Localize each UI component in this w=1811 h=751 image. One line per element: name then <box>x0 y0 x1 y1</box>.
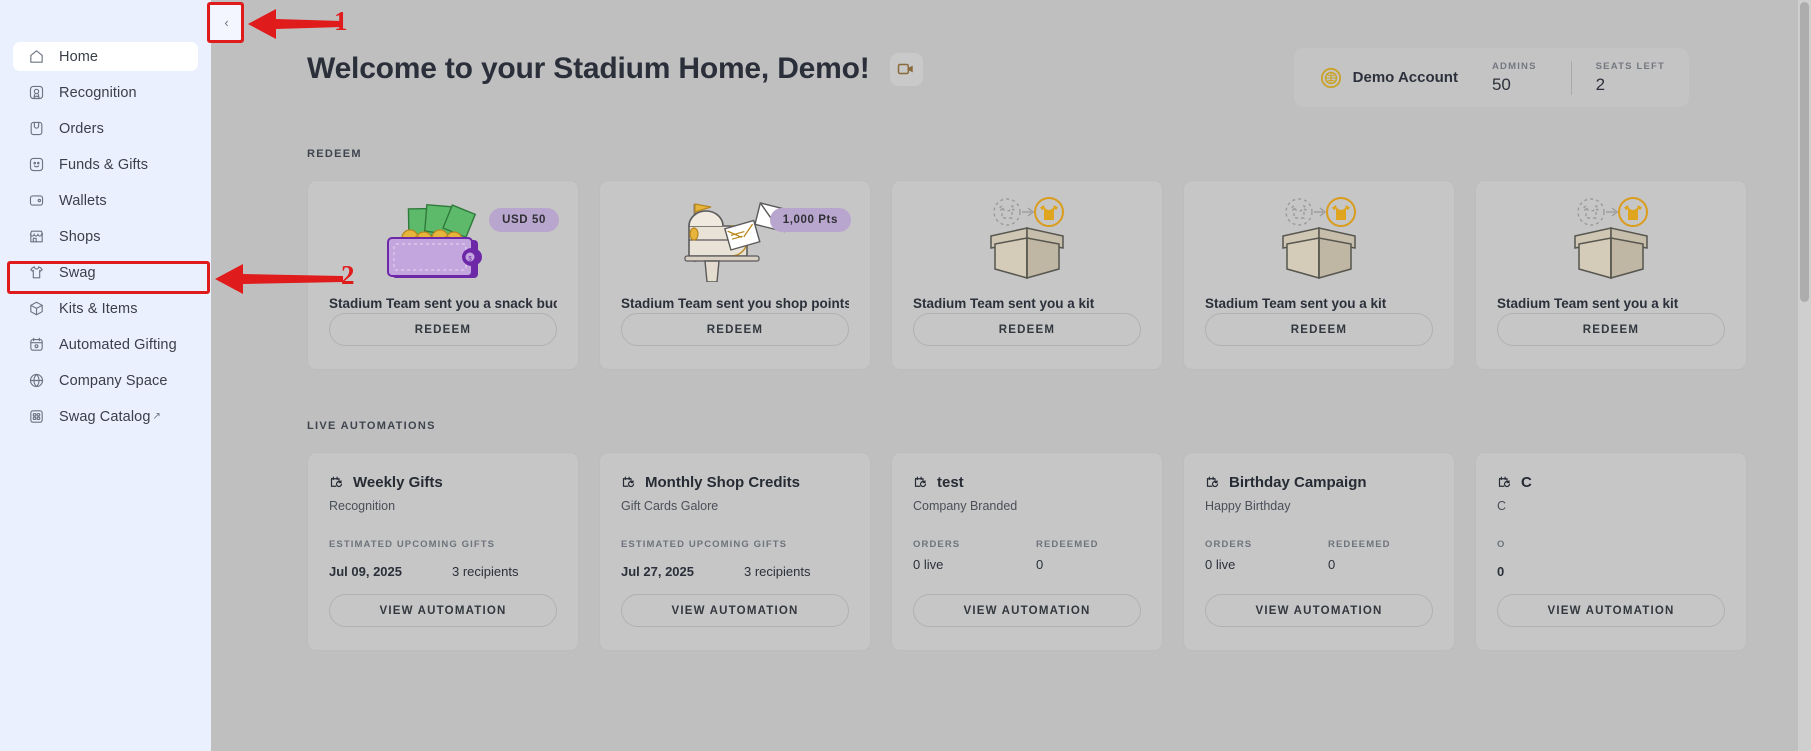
vertical-scrollbar-thumb[interactable] <box>1800 2 1809 302</box>
view-automation-button[interactable]: VIEW AUTOMATION <box>913 594 1141 627</box>
redeem-card-illustration: 1,000 Pts <box>621 198 849 280</box>
sidebar-item-orders[interactable]: Orders <box>13 114 198 143</box>
automation-header: Birthday Campaign <box>1205 474 1433 491</box>
account-stat-admins-label: ADMINS <box>1492 61 1537 72</box>
redeem-card[interactable]: Stadium Team sent you a kitREDEEM <box>1183 180 1455 370</box>
automation-card[interactable]: Weekly GiftsRecognitionESTIMATED UPCOMIN… <box>307 452 579 651</box>
automation-subtitle: Company Branded <box>913 499 1141 513</box>
sidebar-item-swag[interactable]: Swag <box>13 258 198 287</box>
view-automation-button[interactable]: VIEW AUTOMATION <box>621 594 849 627</box>
automation-header: Weekly Gifts <box>329 474 557 491</box>
view-automation-button[interactable]: VIEW AUTOMATION <box>329 594 557 627</box>
automation-calendar-icon <box>913 475 928 490</box>
sidebar-item-label: Orders <box>59 121 104 137</box>
redeem-button[interactable]: REDEEM <box>913 313 1141 346</box>
automation-calendar-icon <box>1497 475 1512 490</box>
external-link-icon: ↗ <box>152 411 160 422</box>
automation-stat-label: O <box>1497 539 1725 550</box>
sidebar-item-label: Home <box>59 49 98 65</box>
view-automation-button[interactable]: VIEW AUTOMATION <box>1497 594 1725 627</box>
redeem-card-illustration: $ USD 50 <box>329 198 557 280</box>
automation-card[interactable]: testCompany BrandedORDERS0 liveREDEEMED0… <box>891 452 1163 651</box>
sidebar-item-automated-gifting[interactable]: Automated Gifting <box>13 330 198 359</box>
wallet-cash-illustration: $ <box>382 196 504 282</box>
automation-stat-value: 0 <box>1497 564 1620 579</box>
box-icon <box>28 300 45 317</box>
collapse-sidebar-button[interactable]: ‹ <box>211 4 242 41</box>
open-box-illustration <box>967 196 1087 282</box>
open-box-illustration <box>1551 196 1671 282</box>
annotation-number-2: 2 <box>341 260 355 291</box>
automation-name: Birthday Campaign <box>1229 474 1367 491</box>
redeem-button[interactable]: REDEEM <box>621 313 849 346</box>
automation-stats: ORDERS0 liveREDEEMED0 <box>1205 539 1433 572</box>
main-content: Welcome to your Stadium Home, Demo! Demo… <box>211 0 1811 751</box>
automation-stat: ORDERS0 live <box>1205 539 1328 572</box>
automation-name: Weekly Gifts <box>353 474 443 491</box>
tshirt-icon <box>28 264 45 281</box>
redeem-card[interactable]: 1,000 PtsStadium Team sent you shop poin… <box>599 180 871 370</box>
redeem-section-label: REDEEM <box>307 148 362 160</box>
automation-calendar-icon <box>1205 475 1220 490</box>
open-box-illustration <box>1259 196 1379 282</box>
sidebar-item-label: Shops <box>59 229 101 245</box>
automation-stat-value: 0 <box>1036 557 1159 572</box>
redeem-card-badge: USD 50 <box>489 208 559 232</box>
automation-stat: REDEEMED0 <box>1036 539 1159 572</box>
video-camera-icon-button[interactable] <box>890 53 923 86</box>
automation-header: test <box>913 474 1141 491</box>
sidebar-item-label: Swag Catalog <box>59 409 150 425</box>
automation-subtitle: Gift Cards Galore <box>621 499 849 513</box>
account-stat-seats-left-label: SEATS LEFT <box>1596 61 1665 72</box>
account-name: Demo Account <box>1353 69 1458 86</box>
calendar-icon <box>28 336 45 353</box>
account-chip[interactable]: Demo Account ADMINS 50 SEATS LEFT 2 <box>1294 48 1689 107</box>
app-root: Welcome to your Stadium Home, Demo! Demo… <box>0 0 1811 751</box>
sidebar-item-label: Company Space <box>59 373 168 389</box>
automation-calendar-icon <box>329 475 344 490</box>
redeem-button[interactable]: REDEEM <box>1497 313 1725 346</box>
page-header: Welcome to your Stadium Home, Demo! <box>307 52 923 86</box>
sidebar-item-recognition[interactable]: Recognition <box>13 78 198 107</box>
automation-subtitle: Happy Birthday <box>1205 499 1433 513</box>
grid-icon <box>28 408 45 425</box>
annotation-number-1: 1 <box>334 6 348 37</box>
sidebar-item-label: Recognition <box>59 85 137 101</box>
automation-stat-value: 0 live <box>1205 557 1328 572</box>
live-automations-section-label: LIVE AUTOMATIONS <box>307 420 436 432</box>
automation-stats: ESTIMATED UPCOMING GIFTSJul 27, 20253 re… <box>621 539 849 579</box>
sidebar-item-label: Swag <box>59 265 96 281</box>
view-automation-button[interactable]: VIEW AUTOMATION <box>1205 594 1433 627</box>
automation-stat: ORDERS0 live <box>913 539 1036 572</box>
automation-subtitle: C <box>1497 499 1725 513</box>
redeem-button[interactable]: REDEEM <box>329 313 557 346</box>
automation-stat-value: 0 <box>1328 557 1451 572</box>
home-icon <box>28 48 45 65</box>
redeem-card-illustration <box>1205 198 1433 280</box>
redeem-card-title: Stadium Team sent you a kit <box>1497 296 1725 311</box>
sidebar: HomeRecognitionOrdersFunds & GiftsWallet… <box>0 0 211 751</box>
automation-stat: REDEEMED0 <box>1328 539 1451 572</box>
automation-stat-value: Jul 09, 2025 <box>329 564 452 579</box>
account-stat-seats-left: SEATS LEFT 2 <box>1571 61 1665 95</box>
automation-card[interactable]: Monthly Shop CreditsGift Cards GaloreEST… <box>599 452 871 651</box>
sidebar-item-funds-gifts[interactable]: Funds & Gifts <box>13 150 198 179</box>
automation-card[interactable]: Birthday CampaignHappy BirthdayORDERS0 l… <box>1183 452 1455 651</box>
redeem-card-illustration <box>1497 198 1725 280</box>
automation-name: C <box>1521 474 1532 491</box>
sidebar-item-kits-items[interactable]: Kits & Items <box>13 294 198 323</box>
sidebar-item-home[interactable]: Home <box>13 42 198 71</box>
automation-name: test <box>937 474 964 491</box>
sidebar-item-label: Kits & Items <box>59 301 138 317</box>
automation-stat-label: ESTIMATED UPCOMING GIFTS <box>621 539 849 550</box>
orders-icon <box>28 120 45 137</box>
automation-stat-label: REDEEMED <box>1328 539 1451 550</box>
redeem-card-badge: 1,000 Pts <box>770 208 851 232</box>
page-title: Welcome to your Stadium Home, Demo! <box>307 52 870 86</box>
automation-stat-recipients: 3 recipients <box>452 564 518 579</box>
redeem-card[interactable]: Stadium Team sent you a kitREDEEM <box>1475 180 1747 370</box>
live-automations-card-row: Weekly GiftsRecognitionESTIMATED UPCOMIN… <box>307 452 1747 651</box>
redeem-button[interactable]: REDEEM <box>1205 313 1433 346</box>
redeem-card[interactable]: Stadium Team sent you a kitREDEEM <box>891 180 1163 370</box>
redeem-card-illustration <box>913 198 1141 280</box>
automation-stat-label: REDEEMED <box>1036 539 1159 550</box>
sidebar-item-label: Automated Gifting <box>59 337 177 353</box>
shop-icon <box>28 228 45 245</box>
automation-card[interactable]: CCO0VIEW AUTOMATION <box>1475 452 1747 651</box>
funds-gifts-icon <box>28 156 45 173</box>
sidebar-item-label: Funds & Gifts <box>59 157 148 173</box>
automation-stat-value: Jul 27, 2025 <box>621 564 744 579</box>
sidebar-item-wallets[interactable]: Wallets <box>13 186 198 215</box>
automation-stat-label: ORDERS <box>913 539 1036 550</box>
video-camera-icon <box>897 60 915 78</box>
redeem-card-title: Stadium Team sent you shop points <box>621 296 849 311</box>
automation-stats: O0 <box>1497 539 1725 579</box>
automation-header: C <box>1497 474 1725 491</box>
automation-name: Monthly Shop Credits <box>645 474 800 491</box>
sidebar-item-label: Wallets <box>59 193 107 209</box>
automation-stat-label: ESTIMATED UPCOMING GIFTS <box>329 539 557 550</box>
automation-stats: ORDERS0 liveREDEEMED0 <box>913 539 1141 572</box>
automation-header: Monthly Shop Credits <box>621 474 849 491</box>
account-stat-admins-value: 50 <box>1492 75 1537 95</box>
sidebar-item-shops[interactable]: Shops <box>13 222 198 251</box>
redeem-card-title: Stadium Team sent you a kit <box>1205 296 1433 311</box>
automation-stats: ESTIMATED UPCOMING GIFTSJul 09, 20253 re… <box>329 539 557 579</box>
automation-stat-recipients: 3 recipients <box>744 564 810 579</box>
automation-calendar-icon <box>621 475 636 490</box>
redeem-card-row: $ USD 50Stadium Team sent you a snack bu… <box>307 180 1747 370</box>
automation-stat-value: 0 live <box>913 557 1036 572</box>
automation-stat-label: ORDERS <box>1205 539 1328 550</box>
recognition-icon <box>28 84 45 101</box>
account-stat-admins: ADMINS 50 <box>1458 61 1537 95</box>
redeem-card-title: Stadium Team sent you a kit <box>913 296 1141 311</box>
redeem-card-title: Stadium Team sent you a snack budget <box>329 296 557 311</box>
globe-icon <box>28 372 45 389</box>
coin-icon <box>1320 67 1342 89</box>
automation-subtitle: Recognition <box>329 499 557 513</box>
sidebar-item-swag-catalog[interactable]: Swag Catalog↗ <box>13 402 198 431</box>
wallet-icon <box>28 192 45 209</box>
sidebar-item-company-space[interactable]: Company Space <box>13 366 198 395</box>
vertical-scrollbar-track[interactable] <box>1798 0 1811 751</box>
account-stat-seats-left-value: 2 <box>1596 75 1665 95</box>
